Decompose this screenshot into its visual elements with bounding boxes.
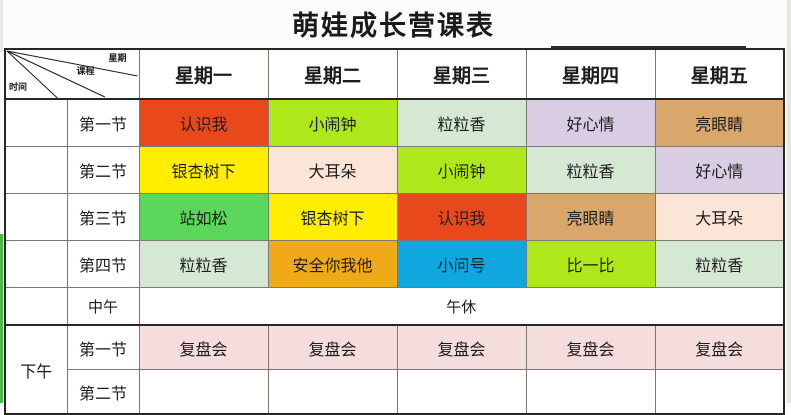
class-cell	[268, 370, 397, 415]
slot-label: 第一节	[67, 325, 139, 370]
day-header-monday: 星期一	[139, 49, 268, 99]
class-cell: 认识我	[397, 194, 526, 241]
left-edge-accent-green	[0, 234, 3, 403]
table-row: 第二节	[5, 370, 784, 415]
class-cell: 好心情	[526, 99, 655, 147]
class-cell: 复盘会	[139, 325, 268, 370]
class-cell: 站如松	[139, 194, 268, 241]
schedule-table: 星期 课程 时间 星期一 星期二 星期三 星期四 星期五 第一节 认识我 小闹钟…	[4, 48, 785, 415]
corner-label-course: 课程	[76, 68, 94, 77]
class-cell: 比一比	[526, 241, 655, 288]
schedule-page: 萌娃成长营课表 星期 课程	[0, 0, 791, 403]
class-cell: 亮眼睛	[655, 99, 784, 147]
class-cell: 安全你我他	[268, 241, 397, 288]
slot-label: 第二节	[67, 147, 139, 194]
class-cell	[397, 370, 526, 415]
day-header-thursday: 星期四	[526, 49, 655, 99]
day-header-tuesday: 星期二	[268, 49, 397, 99]
right-edge-accent	[787, 0, 791, 403]
day-header-friday: 星期五	[655, 49, 784, 99]
noon-row: 中午 午休	[5, 288, 784, 326]
slot-label: 第一节	[67, 99, 139, 147]
class-cell: 粒粒香	[139, 241, 268, 288]
class-cell: 复盘会	[397, 325, 526, 370]
class-cell: 粒粒香	[526, 147, 655, 194]
slot-label: 第二节	[67, 370, 139, 415]
class-cell: 大耳朵	[268, 147, 397, 194]
table-row: 第一节 认识我 小闹钟 粒粒香 好心情 亮眼睛	[5, 99, 784, 147]
class-cell: 认识我	[139, 99, 268, 147]
noon-slot-label: 中午	[67, 288, 139, 326]
class-cell	[526, 370, 655, 415]
class-cell	[655, 370, 784, 415]
morning-period-spacer-2	[5, 147, 67, 194]
table-row: 第三节 站如松 银杏树下 认识我 亮眼睛 大耳朵	[5, 194, 784, 241]
corner-header-cell: 星期 课程 时间	[5, 49, 139, 99]
page-title: 萌娃成长营课表	[0, 4, 787, 43]
class-cell: 小闹钟	[268, 99, 397, 147]
class-cell: 大耳朵	[655, 194, 784, 241]
class-cell	[139, 370, 268, 415]
class-cell: 小问号	[397, 241, 526, 288]
class-cell: 复盘会	[655, 325, 784, 370]
class-cell: 银杏树下	[139, 147, 268, 194]
table-row: 第四节 粒粒香 安全你我他 小问号 比一比 粒粒香	[5, 241, 784, 288]
morning-period-spacer-1	[5, 99, 67, 147]
table-header-row: 星期 课程 时间 星期一 星期二 星期三 星期四 星期五	[5, 49, 784, 99]
class-cell: 粒粒香	[655, 241, 784, 288]
table-row: 第二节 银杏树下 大耳朵 小闹钟 粒粒香 好心情	[5, 147, 784, 194]
class-cell: 小闹钟	[397, 147, 526, 194]
slot-label: 第三节	[67, 194, 139, 241]
morning-period-spacer-3	[5, 194, 67, 241]
afternoon-period-label: 下午	[5, 325, 67, 414]
class-cell: 好心情	[655, 147, 784, 194]
noon-activity-cell: 午休	[139, 288, 784, 326]
noon-period-spacer	[5, 288, 67, 326]
title-band: 萌娃成长营课表	[0, 0, 787, 52]
class-cell: 银杏树下	[268, 194, 397, 241]
class-cell: 粒粒香	[397, 99, 526, 147]
table-row: 下午 第一节 复盘会 复盘会 复盘会 复盘会 复盘会	[5, 325, 784, 370]
class-cell: 亮眼睛	[526, 194, 655, 241]
class-cell: 复盘会	[526, 325, 655, 370]
class-cell: 复盘会	[268, 325, 397, 370]
day-header-wednesday: 星期三	[397, 49, 526, 99]
morning-period-spacer-4	[5, 241, 67, 288]
corner-label-time: 时间	[9, 84, 27, 93]
corner-label-week: 星期	[108, 55, 126, 64]
slot-label: 第四节	[67, 241, 139, 288]
